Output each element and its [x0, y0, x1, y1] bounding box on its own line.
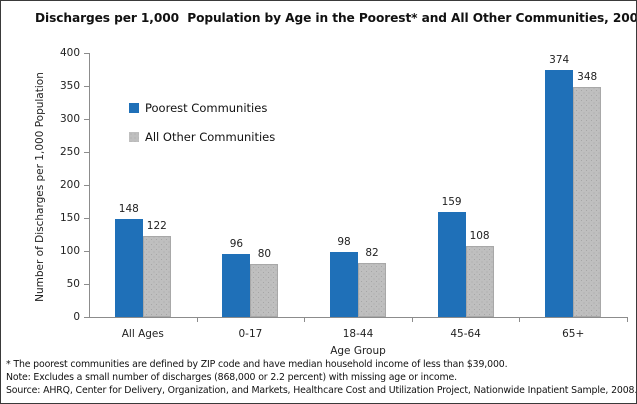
bar-value-label: 159 — [442, 196, 462, 208]
bar-value-label: 122 — [147, 220, 167, 232]
x-axis-tick — [627, 317, 628, 322]
x-axis-label-0-17: 0-17 — [238, 328, 262, 340]
bar-value-label: 96 — [230, 238, 243, 250]
footnote-line-2: Note: Excludes a small number of dischar… — [6, 371, 636, 384]
legend-item-poorest-communities[interactable]: Poorest Communities — [129, 101, 275, 115]
y-axis-tick-label: 150 — [60, 212, 80, 224]
x-axis-tick — [197, 317, 198, 322]
bar-value-label: 98 — [337, 236, 350, 248]
x-axis-label-45-64: 45-64 — [450, 328, 481, 340]
footnotes: * The poorest communities are defined by… — [6, 358, 636, 397]
x-axis-label-all-ages: All Ages — [122, 328, 164, 340]
y-axis: 050100150200250300350400 — [1, 1, 89, 318]
legend-label: Poorest Communities — [145, 101, 267, 115]
x-axis-tick — [304, 317, 305, 322]
y-axis-tick-label: 400 — [60, 47, 80, 59]
bar-18-44-series1 — [358, 263, 386, 317]
bar-all-ages-series0 — [115, 219, 143, 317]
x-axis-label-18-44: 18-44 — [343, 328, 374, 340]
x-axis-label-65-: 65+ — [562, 328, 584, 340]
y-axis-tick-label: 100 — [60, 245, 80, 257]
legend-label: All Other Communities — [145, 130, 275, 144]
y-axis-tick-label: 350 — [60, 80, 80, 92]
bar-value-label: 348 — [577, 71, 597, 83]
legend-item-all-other-communities[interactable]: All Other Communities — [129, 130, 275, 144]
plot-area: 14812296809882159108374348 — [89, 53, 627, 317]
x-axis-tick — [412, 317, 413, 322]
bar-all-ages-series1 — [143, 236, 171, 317]
legend-swatch-icon — [129, 103, 139, 113]
x-axis-line — [89, 317, 627, 318]
bar-65--series1 — [573, 87, 601, 317]
chart-title: Discharges per 1,000 Population by Age i… — [35, 11, 615, 25]
bar-value-label: 148 — [119, 203, 139, 215]
bar-value-label: 374 — [549, 54, 569, 66]
bar-65--series0 — [545, 70, 573, 317]
bar-18-44-series0 — [330, 252, 358, 317]
x-axis-tick — [519, 317, 520, 322]
y-axis-tick-label: 300 — [60, 113, 80, 125]
chart-page: Discharges per 1,000 Population by Age i… — [0, 0, 637, 404]
bar-value-label: 82 — [365, 247, 378, 259]
x-axis-title: Age Group — [89, 345, 627, 357]
footnote-line-1: * The poorest communities are defined by… — [6, 358, 636, 371]
legend-swatch-icon — [129, 132, 139, 142]
bar-value-label: 80 — [258, 248, 271, 260]
y-axis-tick-label: 200 — [60, 179, 80, 191]
bar-0-17-series1 — [250, 264, 278, 317]
bar-45-64-series1 — [466, 246, 494, 317]
y-axis-tick-label: 0 — [73, 311, 80, 323]
bar-value-label: 108 — [470, 230, 490, 242]
bar-0-17-series0 — [222, 254, 250, 317]
y-axis-tick-label: 250 — [60, 146, 80, 158]
chart-legend: Poorest CommunitiesAll Other Communities — [129, 101, 275, 159]
footnote-line-3: Source: AHRQ, Center for Delivery, Organ… — [6, 384, 636, 397]
y-axis-tick-label: 50 — [67, 278, 80, 290]
bar-45-64-series0 — [438, 212, 466, 317]
